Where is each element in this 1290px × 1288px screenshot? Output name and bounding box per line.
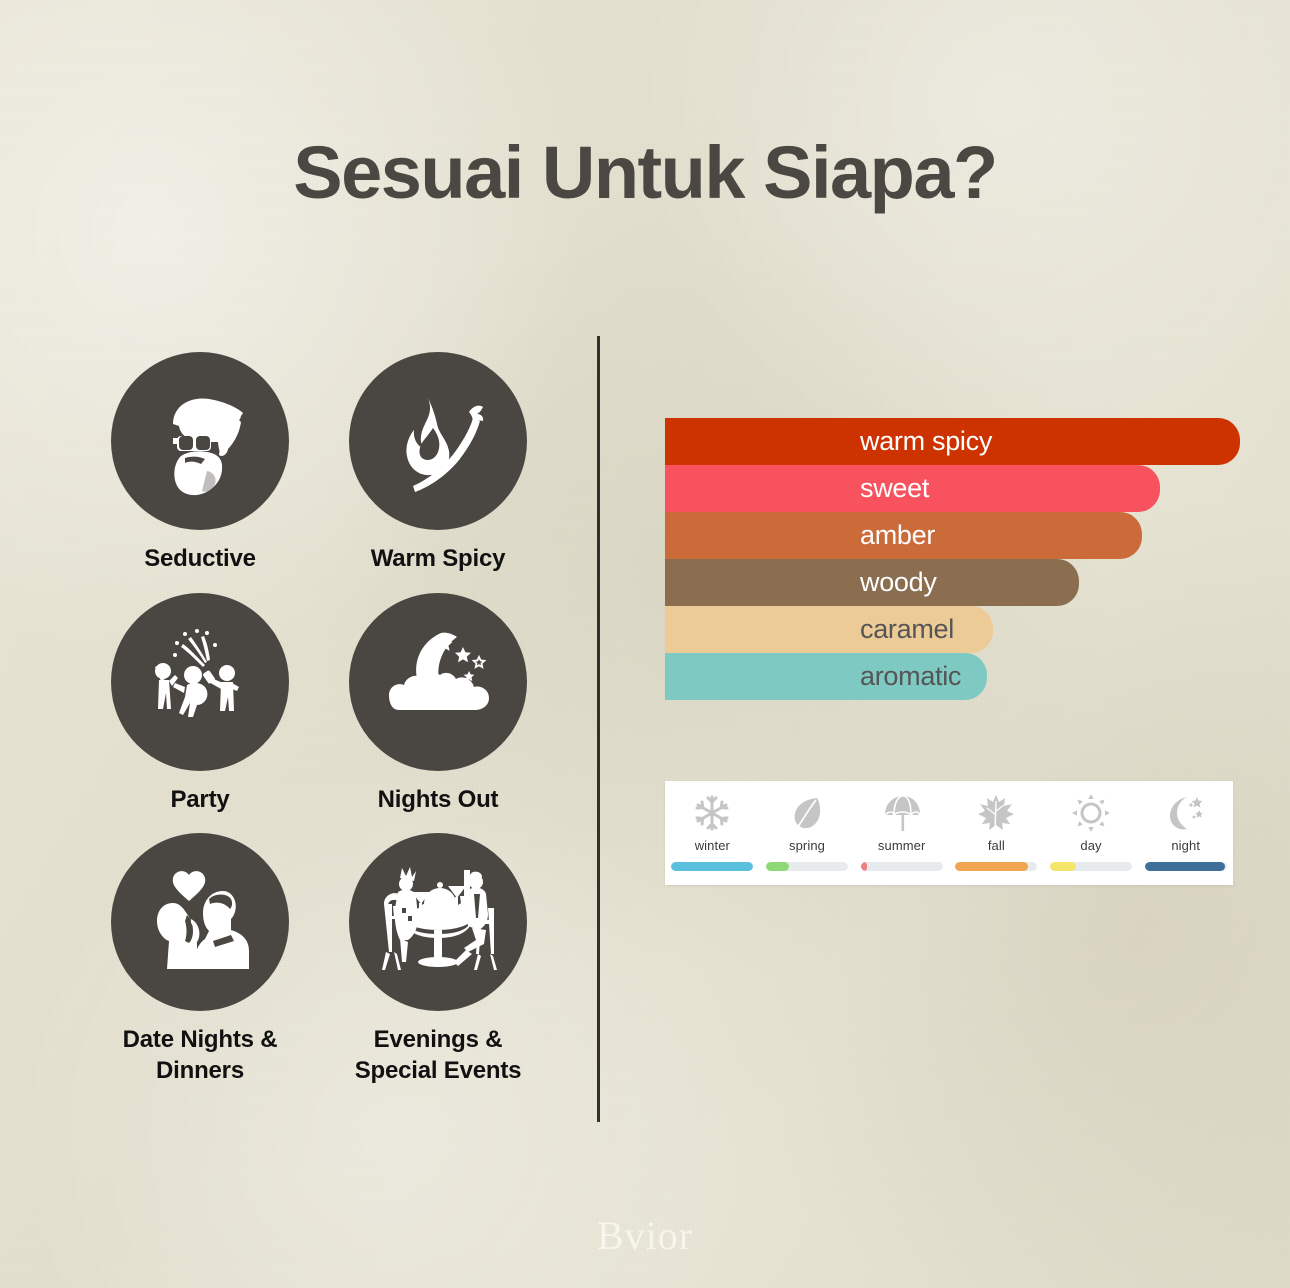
- bar-warm-spicy: warm spicy: [665, 418, 1240, 465]
- bar-label: amber: [860, 520, 935, 551]
- icon-cell-party[interactable]: Party: [110, 593, 290, 816]
- bar-label: caramel: [860, 614, 954, 645]
- season-label: night: [1171, 838, 1200, 853]
- section-divider: [597, 336, 600, 1122]
- icon-cell-seductive[interactable]: Seductive: [110, 352, 290, 575]
- season-progress-fill: [766, 862, 789, 871]
- bar-woody: woody: [665, 559, 1079, 606]
- bar-amber: amber: [665, 512, 1142, 559]
- season-item-day: day: [1044, 781, 1139, 871]
- icon-label: Warm Spicy: [371, 544, 506, 575]
- bar-aromatic: aromatic: [665, 653, 987, 700]
- season-label: winter: [695, 838, 730, 853]
- icon-row-1: Seductive Warm Spicy: [110, 352, 580, 575]
- season-item-winter: winter: [665, 781, 760, 871]
- season-progress-track: [861, 862, 943, 871]
- icon-cell-date-nights[interactable]: Date Nights & Dinners: [110, 833, 290, 1086]
- season-progress-track: [671, 862, 753, 871]
- occasion-icon-grid: Seductive Warm Spicy: [110, 352, 580, 1105]
- icon-row-2: Party Nights Out: [110, 593, 580, 816]
- season-progress-fill: [1145, 862, 1225, 871]
- dining-table-people-icon: [349, 833, 527, 1011]
- season-progress-fill: [955, 862, 1027, 871]
- icon-row-3: Date Nights & Dinners: [110, 833, 580, 1086]
- season-item-summer: summer: [854, 781, 949, 871]
- icon-cell-evenings-events[interactable]: Evenings & Special Events: [348, 833, 528, 1086]
- icon-label: Party: [170, 785, 229, 816]
- crescent-moon-stars-icon: [349, 593, 527, 771]
- icon-label: Date Nights & Dinners: [123, 1025, 278, 1086]
- leaf-icon: [787, 791, 827, 835]
- season-progress-track: [1145, 862, 1227, 871]
- season-progress-fill: [671, 862, 753, 871]
- icon-label: Nights Out: [378, 785, 499, 816]
- couple-heart-icon: [111, 833, 289, 1011]
- icon-cell-nights-out[interactable]: Nights Out: [348, 593, 528, 816]
- people-celebrating-icon: [111, 593, 289, 771]
- flame-chili-icon: [349, 352, 527, 530]
- sun-icon: [1071, 791, 1111, 835]
- bar-sweet: sweet: [665, 465, 1160, 512]
- infographic-canvas: Sesuai Untuk Siapa?: [0, 0, 1290, 1288]
- bar-label: warm spicy: [860, 426, 992, 457]
- bearded-man-sunglasses-icon: [111, 352, 289, 530]
- season-label: fall: [988, 838, 1005, 853]
- season-item-spring: spring: [760, 781, 855, 871]
- season-progress-track: [955, 862, 1037, 871]
- season-item-fall: fall: [949, 781, 1044, 871]
- bar-caramel: caramel: [665, 606, 993, 653]
- season-progress-track: [766, 862, 848, 871]
- icon-cell-warm-spicy[interactable]: Warm Spicy: [348, 352, 528, 575]
- season-label: day: [1080, 838, 1101, 853]
- season-label: spring: [789, 838, 825, 853]
- season-progress-track: [1050, 862, 1132, 871]
- moon-stars-icon: [1165, 791, 1207, 835]
- bar-label: aromatic: [860, 661, 961, 692]
- bar-label: sweet: [860, 473, 929, 504]
- brand-logo: Bvior: [0, 1212, 1290, 1259]
- bar-label: woody: [860, 567, 937, 598]
- season-label: summer: [878, 838, 926, 853]
- icon-label: Seductive: [144, 544, 256, 575]
- season-progress-fill: [1050, 862, 1076, 871]
- beach-umbrella-icon: [881, 791, 923, 835]
- season-item-night: night: [1138, 781, 1233, 871]
- page-title: Sesuai Untuk Siapa?: [0, 130, 1290, 215]
- season-progress-fill: [861, 862, 868, 871]
- icon-label: Evenings & Special Events: [355, 1025, 522, 1086]
- season-suitability-panel: winter spring: [665, 781, 1233, 885]
- maple-leaf-icon: [976, 791, 1016, 835]
- snowflake-icon: [692, 791, 732, 835]
- scent-profile-bar-chart: warm spicy sweet amber woody caramel aro…: [665, 418, 1245, 700]
